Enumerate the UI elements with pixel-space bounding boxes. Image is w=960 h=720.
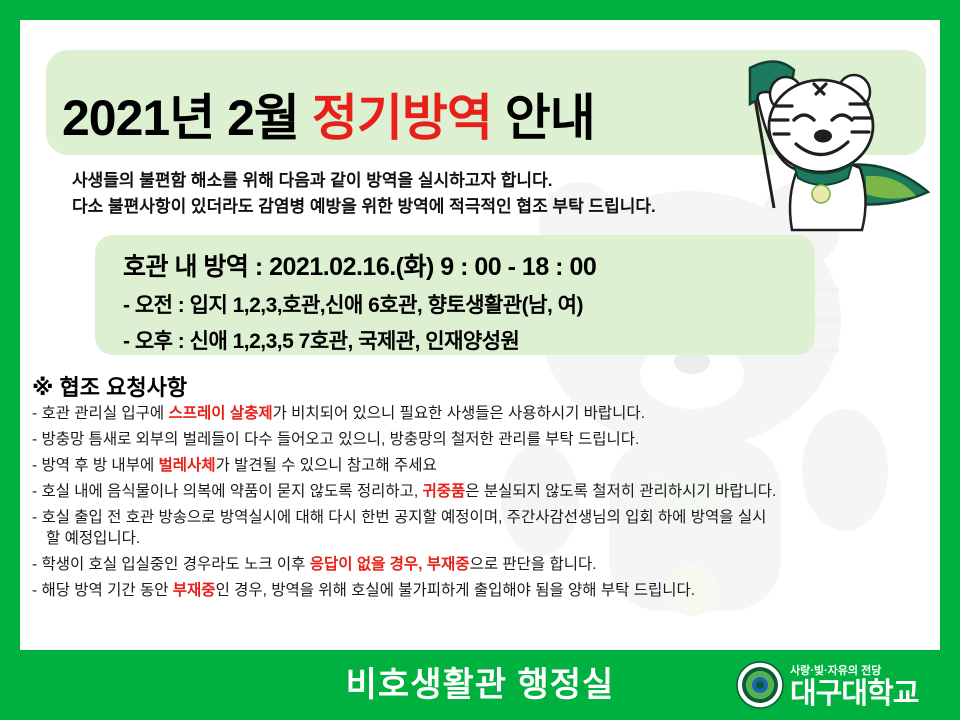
university-name: 대구대학교 bbox=[790, 679, 918, 709]
poster-sheet: 2021년 2월 정기방역 안내 bbox=[20, 20, 940, 650]
note-text: - 방충망 틈새로 외부의 벌레들이 다수 들어오고 있으니, 방충망의 철저한… bbox=[32, 431, 639, 448]
note-highlight: 응답이 없을 경우, 부재중 bbox=[310, 556, 470, 573]
schedule-panel: 호관 내 방역 : 2021.02.16.(화) 9 : 00 - 18 : 0… bbox=[95, 235, 815, 355]
title-highlight: 정기방역 bbox=[312, 90, 492, 146]
schedule-heading: 호관 내 방역 : 2021.02.16.(화) 9 : 00 - 18 : 0… bbox=[123, 247, 815, 283]
university-logo: 사랑·빛·자유의 전당 대구대학교 bbox=[736, 656, 948, 714]
note-highlight: 벌레사체 bbox=[159, 457, 216, 474]
note-text: - 호실 내에 음식물이나 의복에 약품이 묻지 않도록 정리하고, bbox=[32, 483, 422, 500]
page-title: 2021년 2월 정기방역 안내 bbox=[62, 78, 595, 150]
footer-bar: 비호생활관 행정실 사랑·빛·자유의 전당 대구대학교 bbox=[0, 650, 960, 720]
note-item: - 해당 방역 기간 동안 부재중인 경우, 방역을 위해 호실에 불가피하게 … bbox=[32, 581, 922, 600]
note-text: 인 경우, 방역을 위해 호실에 불가피하게 출입해야 됨을 양해 부탁 드립니… bbox=[216, 582, 695, 599]
note-text: 은 분실되지 않도록 철저히 관리하시기 바랍니다. bbox=[465, 483, 776, 500]
note-highlight: 스프레이 살충제 bbox=[168, 405, 272, 422]
note-item: - 호실 내에 음식물이나 의복에 약품이 묻지 않도록 정리하고, 귀중품은 … bbox=[32, 482, 922, 501]
note-text: 가 발견될 수 있으니 참고해 주세요 bbox=[216, 457, 437, 474]
intro-line-2: 다소 불편사항이 있더라도 감염병 예방을 위한 방역에 적극적인 협조 부탁 … bbox=[72, 194, 656, 220]
note-text: - 호관 관리실 입구에 bbox=[32, 405, 168, 422]
schedule-line-morning: - 오전 : 입지 1,2,3,호관,신애 6호관, 향토생활관(남, 여) bbox=[123, 289, 815, 319]
note-text: - 호실 출입 전 호관 방송으로 방역실시에 대해 다시 한번 공지할 예정이… bbox=[32, 509, 766, 526]
tiger-mascot-icon bbox=[728, 48, 938, 233]
title-prefix: 2021년 2월 bbox=[62, 90, 312, 146]
intro-text: 사생들의 불편함 해소를 위해 다음과 같이 방역을 실시하고자 합니다. 다소… bbox=[72, 168, 656, 220]
note-highlight: 귀중품 bbox=[422, 483, 465, 500]
university-tagline: 사랑·빛·자유의 전당 bbox=[790, 662, 918, 678]
university-wordmark: 사랑·빛·자유의 전당 대구대학교 bbox=[790, 662, 918, 709]
title-suffix: 안내 bbox=[492, 90, 595, 146]
note-highlight: 부재중 bbox=[173, 582, 216, 599]
note-text: 으로 판단을 합니다. bbox=[470, 556, 597, 573]
notes-heading: ※ 협조 요청사항 bbox=[32, 370, 187, 402]
note-text: - 학생이 호실 입실중인 경우라도 노크 이후 bbox=[32, 556, 310, 573]
notes-list: - 호관 관리실 입구에 스프레이 살충제가 비치되어 있으니 필요한 사생들은… bbox=[32, 404, 922, 607]
note-text: - 해당 방역 기간 동안 bbox=[32, 582, 173, 599]
note-text: - 방역 후 방 내부에 bbox=[32, 457, 159, 474]
schedule-line-afternoon: - 오후 : 신애 1,2,3,5 7호관, 국제관, 인재양성원 bbox=[123, 325, 815, 355]
note-item: - 방충망 틈새로 외부의 벌레들이 다수 들어오고 있으니, 방충망의 철저한… bbox=[32, 430, 922, 449]
note-text: 가 비치되어 있으니 필요한 사생들은 사용하시기 바랍니다. bbox=[273, 405, 645, 422]
intro-line-1: 사생들의 불편함 해소를 위해 다음과 같이 방역을 실시하고자 합니다. bbox=[72, 168, 656, 194]
university-emblem-icon bbox=[736, 661, 784, 709]
note-item-continuation: 할 예정입니다. bbox=[32, 529, 922, 548]
note-item: - 학생이 호실 입실중인 경우라도 노크 이후 응답이 없을 경우, 부재중으… bbox=[32, 555, 922, 574]
poster-root: 2021년 2월 정기방역 안내 bbox=[0, 0, 960, 720]
note-item: - 호실 출입 전 호관 방송으로 방역실시에 대해 다시 한번 공지할 예정이… bbox=[32, 508, 922, 527]
note-item: - 호관 관리실 입구에 스프레이 살충제가 비치되어 있으니 필요한 사생들은… bbox=[32, 404, 922, 423]
note-item: - 방역 후 방 내부에 벌레사체가 발견될 수 있으니 참고해 주세요 bbox=[32, 456, 922, 475]
